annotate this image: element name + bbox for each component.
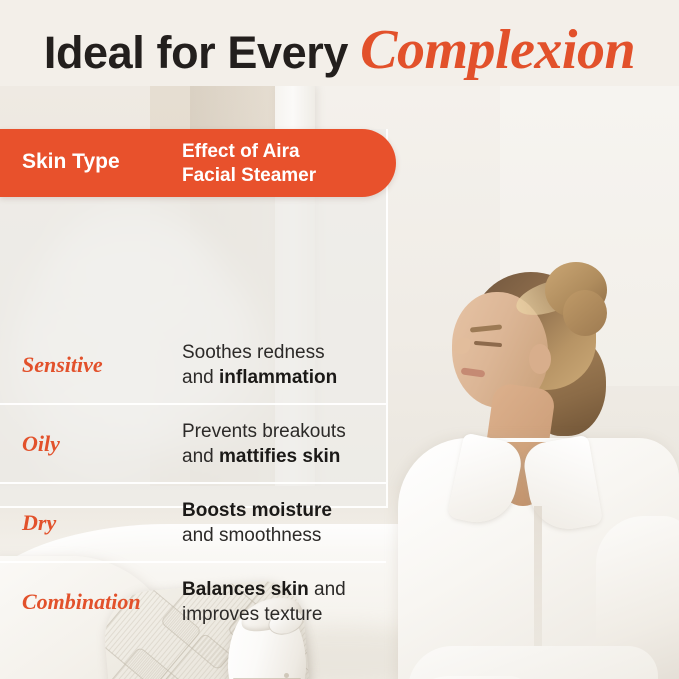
- column-header-effect-line2: Facial Steamer: [182, 164, 316, 188]
- cell-effect-line1: Prevents breakouts: [182, 419, 346, 444]
- column-header-effect: Effect of Aira Facial Steamer: [182, 140, 316, 188]
- hair-bun-lower: [563, 290, 607, 336]
- cell-effect: Boosts moistureand smoothness: [182, 498, 332, 548]
- table-body: SensitiveSoothes rednessand inflammation…: [0, 326, 386, 640]
- cell-effect-line1: Balances skin and: [182, 577, 346, 602]
- cell-effect-line1: Boosts moisture: [182, 498, 332, 523]
- table-row: CombinationBalances skin andimproves tex…: [0, 561, 386, 640]
- title-part-primary: Ideal for Every: [44, 27, 360, 78]
- cell-skin-type: Dry: [22, 510, 56, 536]
- cell-skin-type: Sensitive: [22, 352, 103, 378]
- white-pants: [408, 646, 658, 679]
- product-infographic: Ideal for Every Complexion SensitiveSoot…: [0, 0, 679, 679]
- cell-effect: Balances skin andimproves texture: [182, 577, 346, 627]
- cell-effect-line2: and inflammation: [182, 365, 337, 390]
- column-header-effect-line1: Effect of Aira: [182, 140, 316, 164]
- cell-effect-line2: and mattifies skin: [182, 444, 346, 469]
- cell-effect-line2: and smoothness: [182, 523, 332, 548]
- ear: [529, 344, 551, 374]
- cell-effect-line1: Soothes redness: [182, 340, 337, 365]
- nose: [454, 338, 470, 354]
- table-row: OilyPrevents breakoutsand mattifies skin: [0, 403, 386, 482]
- facial-steamer-logo: [284, 673, 289, 678]
- cell-skin-type: Combination: [22, 589, 141, 615]
- cell-skin-type: Oily: [22, 431, 60, 457]
- column-header-skin-type: Skin Type: [22, 150, 120, 174]
- cell-effect: Soothes rednessand inflammation: [182, 340, 337, 390]
- cell-effect: Prevents breakoutsand mattifies skin: [182, 419, 346, 469]
- table-row: SensitiveSoothes rednessand inflammation: [0, 326, 386, 403]
- cell-effect-line2: improves texture: [182, 602, 346, 627]
- page-title: Ideal for Every Complexion: [0, 18, 679, 88]
- table-row: DryBoosts moistureand smoothness: [0, 482, 386, 561]
- title-part-accent: Complexion: [360, 19, 635, 81]
